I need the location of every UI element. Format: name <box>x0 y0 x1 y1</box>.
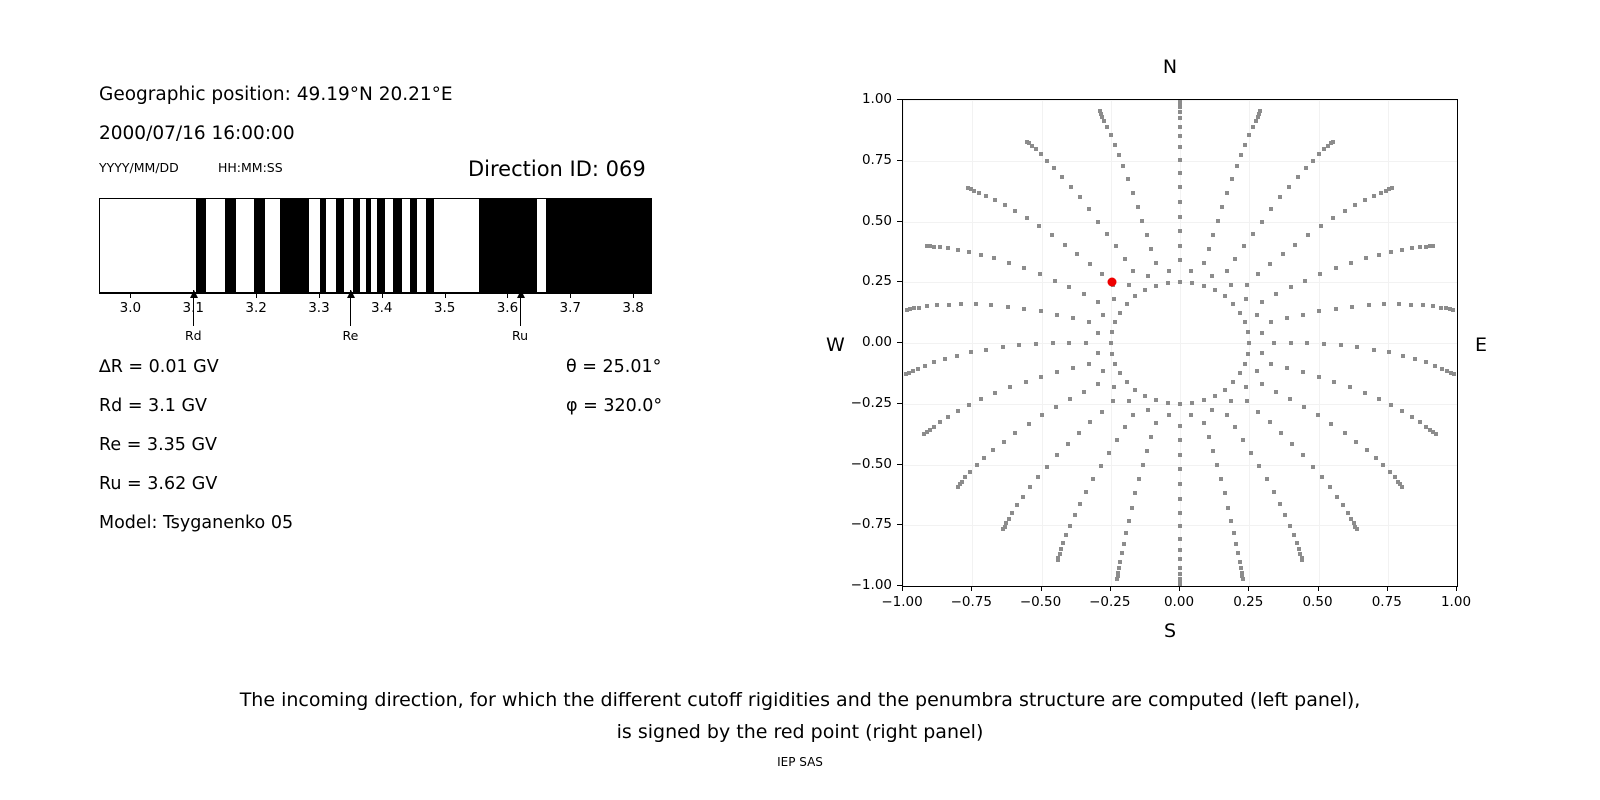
sky-spoke-dot <box>1039 375 1043 379</box>
x-tick-mark <box>1248 586 1249 591</box>
sky-spoke-dot <box>1078 195 1082 199</box>
parameter-row: Model: Tsyganenko 05 <box>99 513 293 533</box>
sky-spoke-dot <box>1332 380 1336 384</box>
sky-spoke-dot <box>1233 257 1237 261</box>
sky-spoke-dot <box>1059 547 1063 551</box>
sky-spoke-dot <box>1202 261 1206 265</box>
sky-spoke-dot <box>1249 451 1253 455</box>
sky-spoke-dot <box>1349 517 1353 521</box>
sky-inner-ray-dot <box>1101 313 1105 317</box>
sky-spoke-dot <box>935 303 939 307</box>
cutoff-marker-label-ru: Ru <box>512 328 528 343</box>
x-tick-label: 0.00 <box>1164 594 1194 610</box>
sky-ring-dot <box>1238 311 1242 315</box>
sky-ring-dot <box>1178 402 1182 406</box>
penumbra-tick <box>633 293 634 298</box>
sky-inner-ray-dot <box>1167 269 1171 273</box>
sky-inner-ray-dot <box>1255 313 1259 317</box>
sky-spoke-dot <box>1241 438 1245 442</box>
sky-spoke-dot <box>1178 482 1182 486</box>
sky-spoke-dot <box>984 348 988 352</box>
datetime-label: 2000/07/16 16:00:00 <box>99 123 295 144</box>
sky-spoke-dot <box>1268 420 1272 424</box>
sky-spoke-dot <box>1292 533 1296 537</box>
sky-spoke-dot <box>1006 305 1010 309</box>
penumbra-forbidden-band <box>366 199 372 292</box>
sky-spoke-dot <box>1133 491 1137 495</box>
sky-spoke-dot <box>1124 531 1128 535</box>
sky-spoke-dot <box>1354 440 1358 444</box>
sky-spoke-dot <box>1424 360 1428 364</box>
sky-inner-ray-dot <box>1127 399 1131 403</box>
sky-inner-ray-dot <box>1229 399 1233 403</box>
figure-root: Geographic position: 49.19°N 20.21°E 200… <box>0 0 1600 800</box>
sky-spoke-dot <box>1389 250 1393 254</box>
x-tick-label: −0.75 <box>951 594 992 610</box>
sky-spoke-dot <box>1272 490 1276 494</box>
sky-ring-dot <box>1231 302 1235 306</box>
y-tick-label: 0.75 <box>836 152 892 168</box>
sky-spoke-dot <box>1178 438 1182 442</box>
penumbra-tick-label: 3.6 <box>497 300 518 316</box>
penumbra-tick <box>130 293 131 298</box>
sky-spoke-dot <box>1024 380 1028 384</box>
sky-spoke-dot <box>1088 420 1092 424</box>
sky-spoke-dot <box>1254 119 1258 123</box>
sky-spoke-dot <box>1452 372 1456 376</box>
sky-spoke-dot <box>923 364 927 368</box>
sky-spoke-dot <box>1071 316 1075 320</box>
x-tick-label: 1.00 <box>1441 594 1471 610</box>
sky-spoke-dot <box>1318 272 1322 276</box>
sky-spoke-dot <box>1069 185 1073 189</box>
sky-spoke-dot <box>1141 463 1145 467</box>
sky-spoke-dot <box>1178 244 1182 248</box>
sky-spoke-dot <box>1078 502 1082 506</box>
sky-spoke-dot <box>1389 403 1393 407</box>
sky-spoke-dot <box>1178 424 1182 428</box>
sky-spoke-dot <box>916 367 920 371</box>
sky-spoke-dot <box>1281 252 1285 256</box>
x-tick-mark <box>1387 586 1388 591</box>
sky-spoke-dot <box>1331 140 1335 144</box>
sky-spoke-dot <box>1274 292 1278 296</box>
y-tick-label: −0.50 <box>836 456 892 472</box>
sky-ring-dot <box>1238 371 1242 375</box>
sky-spoke-dot <box>1303 279 1307 283</box>
sky-spoke-dot <box>1178 548 1182 552</box>
sky-spoke-dot <box>1015 503 1019 507</box>
sky-inner-ray-dot <box>1229 283 1233 287</box>
sky-ring-dot <box>1133 294 1137 298</box>
x-tick-label: −0.50 <box>1020 594 1061 610</box>
sky-spoke-dot <box>1256 272 1260 276</box>
x-tick-mark <box>971 586 972 591</box>
sky-spoke-dot <box>1178 258 1182 262</box>
sky-spoke-dot <box>1400 485 1404 489</box>
sky-spoke-dot <box>975 463 979 467</box>
sky-spoke-dot <box>1278 502 1282 506</box>
sky-ring-dot <box>1246 330 1250 334</box>
sky-spoke-dot <box>1355 527 1359 531</box>
y-tick-mark <box>897 99 902 100</box>
sky-spoke-dot <box>979 253 983 257</box>
cutoff-marker-label-rd: Rd <box>185 328 202 343</box>
sky-spoke-dot <box>1115 577 1119 581</box>
sky-spoke-dot <box>1178 200 1182 204</box>
sky-spoke-dot <box>1122 542 1126 546</box>
sky-ring-dot <box>1223 294 1227 298</box>
x-tick-label: 0.75 <box>1372 594 1402 610</box>
penumbra-forbidden-band <box>479 199 537 292</box>
sky-ring-dot <box>1125 302 1129 306</box>
sky-spoke-dot <box>1117 153 1121 157</box>
sky-ring-dot <box>1243 320 1247 324</box>
sky-spoke-dot <box>1131 269 1135 273</box>
sky-spoke-dot <box>932 245 936 249</box>
sky-spoke-dot <box>1113 143 1117 147</box>
sky-spoke-dot <box>1258 109 1262 113</box>
sky-spoke-dot <box>1317 375 1321 379</box>
sky-spoke-dot <box>1178 125 1182 129</box>
sky-spoke-dot <box>1320 475 1324 479</box>
sky-spoke-dot <box>1025 140 1029 144</box>
sky-spoke-dot <box>1060 175 1064 179</box>
footer-credit: IEP SAS <box>0 755 1600 769</box>
sky-spoke-dot <box>1107 451 1111 455</box>
sky-spoke-dot <box>1137 477 1141 481</box>
sky-spoke-dot <box>1364 256 1368 260</box>
sky-spoke-dot <box>1251 125 1255 129</box>
penumbra-forbidden-band <box>426 199 434 292</box>
sky-spoke-dot <box>1409 303 1413 307</box>
sky-ring-dot <box>1246 352 1250 356</box>
x-tick-label: 0.25 <box>1233 594 1263 610</box>
sky-map-plot <box>902 99 1458 587</box>
sky-spoke-dot <box>932 425 936 429</box>
sky-spoke-dot <box>1127 519 1131 523</box>
sky-spoke-dot <box>1247 133 1251 137</box>
sky-spoke-dot <box>1390 186 1394 190</box>
sky-spoke-dot <box>925 244 929 248</box>
sky-spoke-dot <box>1022 266 1026 270</box>
sky-spoke-dot <box>1293 243 1297 247</box>
sky-spoke-dot <box>1131 191 1135 195</box>
sky-spoke-dot <box>904 372 908 376</box>
sky-spoke-dot <box>1178 185 1182 189</box>
sky-spoke-dot <box>1052 166 1056 170</box>
sky-spoke-dot <box>1178 537 1182 541</box>
sky-spoke-dot <box>1372 348 1376 352</box>
sky-spoke-dot <box>1037 224 1041 228</box>
sky-ring-dot <box>1166 401 1170 405</box>
penumbra-forbidden-band <box>336 199 344 292</box>
penumbra-forbidden-band <box>320 199 326 292</box>
sky-spoke-dot <box>1295 541 1299 545</box>
sky-ring-dot <box>1213 288 1217 292</box>
sky-spoke-dot <box>1256 410 1260 414</box>
sky-spoke-dot <box>1365 448 1369 452</box>
sky-spoke-dot <box>1063 243 1067 247</box>
sky-spoke-dot <box>1379 191 1383 195</box>
sky-spoke-dot <box>1001 527 1005 531</box>
sky-spoke-dot <box>1098 109 1102 113</box>
sky-spoke-dot <box>1431 244 1435 248</box>
parameter-row: ∆R = 0.01 GV <box>99 357 219 377</box>
sky-inner-ray-dot <box>1244 385 1248 389</box>
sky-spoke-dot <box>992 256 996 260</box>
sky-inner-ray-dot <box>1112 297 1116 301</box>
sky-spoke-dot <box>1243 143 1247 147</box>
sky-spoke-dot <box>1039 309 1043 313</box>
sky-inner-ray-dot <box>1260 351 1264 355</box>
sky-spoke-dot <box>1230 177 1234 181</box>
sky-inner-ray-dot <box>1096 351 1100 355</box>
penumbra-forbidden-band <box>225 199 236 292</box>
sky-spoke-dot <box>1285 366 1289 370</box>
sky-spoke-dot <box>1084 341 1088 345</box>
sky-spoke-dot <box>1410 415 1414 419</box>
sky-spoke-dot <box>1055 453 1059 457</box>
sky-spoke-dot <box>1100 410 1104 414</box>
sky-spoke-dot <box>1131 413 1135 417</box>
sky-ring-dot <box>1166 281 1170 285</box>
sky-spoke-dot <box>979 397 983 401</box>
sky-spoke-dot <box>1178 453 1182 457</box>
y-tick-label: 1.00 <box>836 91 892 107</box>
sky-spoke-dot <box>955 354 959 358</box>
sky-spoke-dot <box>1071 366 1075 370</box>
sky-spoke-dot <box>1367 303 1371 307</box>
sky-spoke-dot <box>1348 385 1352 389</box>
sky-spoke-dot <box>1126 177 1130 181</box>
sky-spoke-dot <box>1421 303 1425 307</box>
penumbra-tick <box>256 293 257 298</box>
sky-spoke-dot <box>1051 341 1055 345</box>
sky-spoke-dot <box>1178 497 1182 501</box>
penumbra-tick <box>382 293 383 298</box>
y-tick-mark <box>897 524 902 525</box>
sky-spoke-dot <box>922 432 926 436</box>
sky-spoke-dot <box>1225 413 1229 417</box>
x-tick-label: −0.25 <box>1089 594 1130 610</box>
sky-spoke-dot <box>925 304 929 308</box>
sky-spoke-dot <box>1418 420 1422 424</box>
sky-spoke-dot <box>1039 152 1043 156</box>
penumbra-band-plot <box>99 198 652 293</box>
sky-spoke-dot <box>1013 209 1017 213</box>
sky-spoke-dot <box>1178 171 1182 175</box>
sky-spoke-dot <box>947 303 951 307</box>
sky-spoke-dot <box>1038 272 1042 276</box>
figure-caption: The incoming direction, for which the di… <box>0 684 1600 748</box>
sky-ring-dot <box>1154 284 1158 288</box>
sky-spoke-dot <box>959 302 963 306</box>
sky-spoke-dot <box>1082 390 1086 394</box>
sky-spoke-dot <box>1239 566 1243 570</box>
sky-spoke-dot <box>1075 252 1079 256</box>
sky-spoke-dot <box>1109 133 1113 137</box>
sky-spoke-dot <box>1343 431 1347 435</box>
sky-spoke-dot <box>1424 425 1428 429</box>
penumbra-tick-label: 3.4 <box>371 300 392 316</box>
sky-spoke-dot <box>1216 219 1220 223</box>
sky-spoke-dot <box>977 191 981 195</box>
sky-spoke-dot <box>1257 464 1261 468</box>
sky-spoke-dot <box>1087 320 1091 324</box>
sky-spoke-dot <box>1289 285 1293 289</box>
sky-spoke-dot <box>1211 449 1215 453</box>
sky-spoke-dot <box>1115 438 1119 442</box>
sky-spoke-dot <box>1343 209 1347 213</box>
sky-spoke-dot <box>1439 306 1443 310</box>
x-tick-mark <box>1041 586 1042 591</box>
sky-spoke-dot <box>1130 506 1134 510</box>
sky-spoke-dot <box>1311 159 1315 163</box>
y-tick-mark <box>897 403 902 404</box>
sky-spoke-dot <box>1388 470 1392 474</box>
sky-spoke-dot <box>1372 194 1376 198</box>
sky-spoke-dot <box>1355 345 1359 349</box>
sky-spoke-dot <box>1242 244 1246 248</box>
sky-spoke-dot <box>1260 220 1264 224</box>
sky-spoke-dot <box>1055 370 1059 374</box>
sky-spoke-dot <box>1017 343 1021 347</box>
sky-inner-ray-dot <box>1127 283 1131 287</box>
sky-inner-ray-dot <box>1189 269 1193 273</box>
y-tick-label: −0.75 <box>836 516 892 532</box>
sky-spoke-dot <box>1136 205 1140 209</box>
penumbra-forbidden-band <box>196 199 205 292</box>
sky-spoke-dot <box>1178 99 1182 103</box>
sky-inner-ray-dot <box>1244 297 1248 301</box>
sky-spoke-dot <box>1102 119 1106 123</box>
sky-spoke-dot <box>1301 313 1305 317</box>
sky-spoke-dot <box>1339 343 1343 347</box>
sky-ring-dot <box>1118 371 1122 375</box>
sky-spoke-dot <box>1068 524 1072 528</box>
sky-spoke-dot <box>1322 342 1326 346</box>
y-tick-label: −0.25 <box>836 395 892 411</box>
sky-spoke-dot <box>1433 364 1437 368</box>
grid-line-horizontal <box>903 586 1457 587</box>
sky-spoke-dot <box>1111 399 1115 403</box>
sky-spoke-dot <box>1269 320 1273 324</box>
sky-spoke-dot <box>1377 397 1381 401</box>
sky-spoke-dot <box>1377 253 1381 257</box>
sky-spoke-dot <box>1056 558 1060 562</box>
sky-spoke-dot <box>1233 425 1237 429</box>
penumbra-forbidden-band <box>254 199 265 292</box>
sky-spoke-dot <box>1341 503 1345 507</box>
sky-spoke-dot <box>1073 513 1077 517</box>
sky-spoke-dot <box>1319 224 1323 228</box>
sky-spoke-dot <box>1334 307 1338 311</box>
sky-spoke-dot <box>1279 431 1283 435</box>
sky-spoke-dot <box>1178 158 1182 162</box>
sky-spoke-dot <box>1105 232 1109 236</box>
penumbra-forbidden-band <box>393 199 401 292</box>
sky-spoke-dot <box>1288 397 1292 401</box>
sky-spoke-dot <box>1251 232 1255 236</box>
cutoff-marker-arrow-re <box>350 290 351 326</box>
x-tick-mark <box>1179 586 1180 591</box>
x-tick-label: −1.00 <box>881 594 922 610</box>
sky-spoke-dot <box>1381 463 1385 467</box>
sky-spoke-dot <box>966 186 970 190</box>
sky-ring-dot <box>1113 320 1117 324</box>
sky-spoke-dot <box>1335 495 1339 499</box>
sky-spoke-dot <box>1050 233 1054 237</box>
sky-spoke-dot <box>1334 266 1338 270</box>
sky-inner-ray-dot <box>1210 274 1214 278</box>
penumbra-forbidden-band <box>377 199 386 292</box>
sky-spoke-dot <box>1451 308 1455 312</box>
penumbra-tick-label: 3.3 <box>308 300 329 316</box>
sky-spoke-dot <box>1045 465 1049 469</box>
sky-spoke-dot <box>1328 485 1332 489</box>
sky-spoke-dot <box>932 360 936 364</box>
sky-inner-ray-dot <box>1210 408 1214 412</box>
sky-spoke-dot <box>1178 557 1182 561</box>
sky-spoke-dot <box>1154 261 1158 265</box>
sky-spoke-dot <box>943 357 947 361</box>
penumbra-axis-line <box>99 293 652 294</box>
sky-inner-ray-dot <box>1146 408 1150 412</box>
sky-spoke-dot <box>1025 216 1029 220</box>
sky-spoke-dot <box>1096 300 1100 304</box>
sky-spoke-dot <box>963 475 967 479</box>
sky-spoke-dot <box>1036 475 1040 479</box>
sky-spoke-dot <box>1120 551 1124 555</box>
sky-spoke-dot <box>1413 357 1417 361</box>
sky-spoke-dot <box>1010 511 1014 515</box>
y-tick-label: 0.00 <box>836 334 892 350</box>
sky-spoke-dot <box>1013 431 1017 435</box>
sky-spoke-dot <box>1066 442 1070 446</box>
sky-spoke-dot <box>1302 405 1306 409</box>
sky-spoke-dot <box>1002 440 1006 444</box>
sky-spoke-dot <box>1431 304 1435 308</box>
sky-spoke-dot <box>1306 233 1310 237</box>
sky-inner-ray-dot <box>1167 413 1171 417</box>
sky-spoke-dot <box>1202 421 1206 425</box>
sky-spoke-dot <box>1077 431 1081 435</box>
sky-spoke-dot <box>1178 145 1182 149</box>
left-panel: Geographic position: 49.19°N 20.21°E 200… <box>0 0 800 660</box>
sky-spoke-dot <box>1226 506 1230 510</box>
sky-inner-ray-dot <box>1260 331 1264 335</box>
direction-id-label: Direction ID: 069 <box>468 157 646 181</box>
sky-spoke-dot <box>1118 560 1122 564</box>
sky-spoke-dot <box>1374 456 1378 460</box>
sky-spoke-dot <box>1387 350 1391 354</box>
sky-ring-dot <box>1190 281 1194 285</box>
sky-ring-dot <box>1154 398 1158 402</box>
sky-spoke-dot <box>1350 305 1354 309</box>
sky-spoke-dot <box>1055 313 1059 317</box>
sky-inner-ray-dot <box>1112 385 1116 389</box>
sky-spoke-dot <box>912 306 916 310</box>
sky-ring-dot <box>1110 330 1114 334</box>
sky-spoke-dot <box>1053 279 1057 283</box>
sky-inner-ray-dot <box>1255 369 1259 373</box>
sky-ring-dot <box>1109 341 1113 345</box>
sky-spoke-dot <box>1178 524 1182 528</box>
penumbra-tick-label: 3.2 <box>245 300 266 316</box>
sky-inner-ray-dot <box>1101 369 1105 373</box>
sky-spoke-dot <box>1236 551 1240 555</box>
